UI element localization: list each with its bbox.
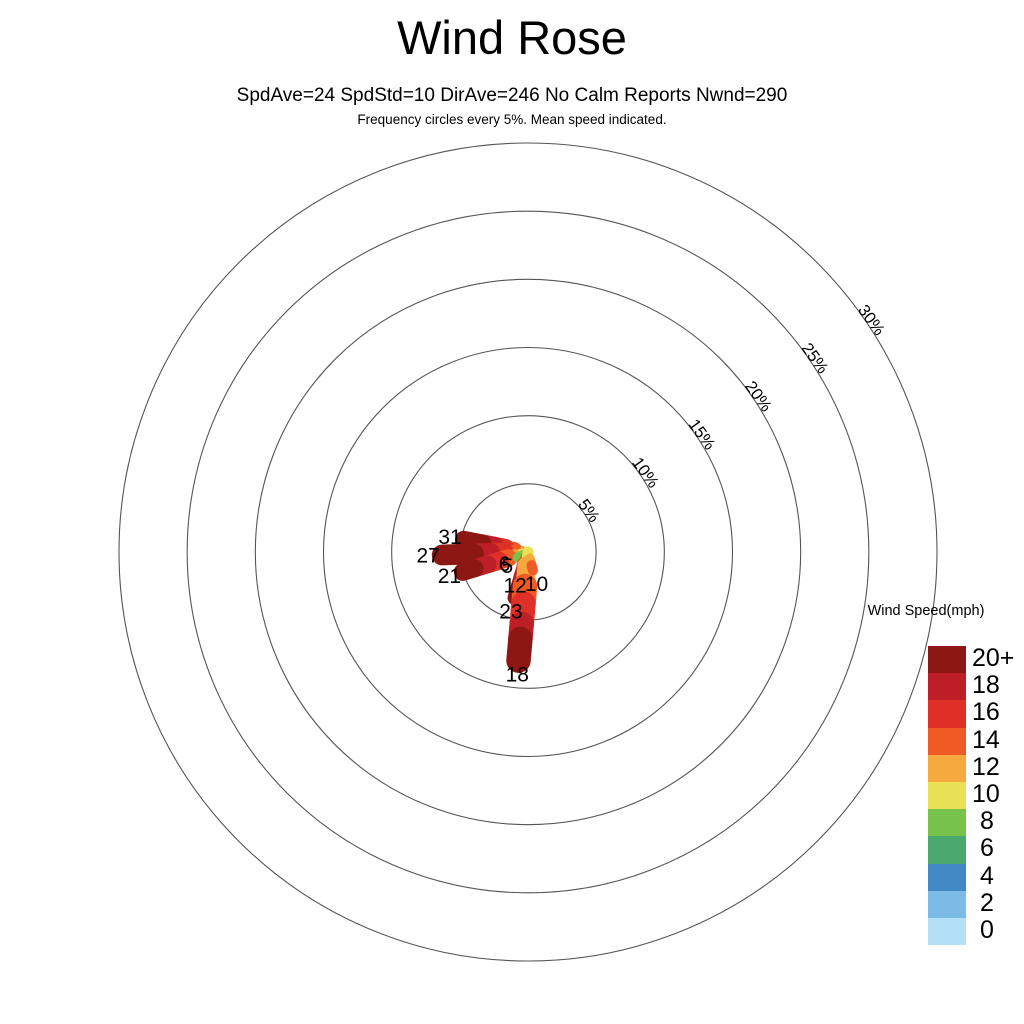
petal-mean-speed-label: 31 — [438, 526, 461, 549]
ring-labels: 5%10%15%20%25%30% — [574, 302, 888, 526]
petal-speed-segment — [518, 639, 520, 661]
petal-mean-speed-label: 18 — [506, 664, 529, 687]
legend-entry-label: 2 — [980, 888, 1024, 918]
legend-entry-label: 0 — [980, 915, 1024, 945]
legend-color-swatch — [928, 782, 966, 809]
petal-speed-segment — [464, 540, 483, 544]
legend-color-swatch — [928, 809, 966, 836]
legend-entry-label: 4 — [980, 861, 1024, 891]
ring-label: 30% — [854, 302, 888, 340]
legend-entry[interactable]: 14 — [928, 728, 966, 755]
legend-entry-label: 20+ — [972, 643, 1024, 673]
legend-color-swatch — [928, 918, 966, 945]
wind-rose-plot: 5%10%15%20%25%30% 3127216512231810 — [0, 0, 1024, 1024]
legend-entry[interactable]: 10 — [928, 782, 966, 809]
legend-entry[interactable]: 2 — [928, 891, 966, 918]
ring-label: 15% — [685, 416, 719, 454]
legend-color-swatch — [928, 646, 966, 673]
legend-entry-label: 14 — [972, 725, 1024, 755]
legend-entry-label: 16 — [972, 697, 1024, 727]
wind-speed-legend: 20+181614121086420 — [928, 646, 966, 945]
legend-color-swatch — [928, 755, 966, 782]
ring-label: 5% — [574, 496, 603, 526]
petal-mean-speed-label: 21 — [438, 565, 461, 588]
legend-color-swatch — [928, 864, 966, 891]
petal-speed-segment — [463, 568, 475, 572]
ring-label: 10% — [628, 454, 662, 492]
petal-speed-segment — [442, 554, 473, 555]
legend-entry[interactable]: 12 — [928, 755, 966, 782]
legend-title: Wind Speed(mph) — [828, 602, 1024, 620]
legend-entry-label: 6 — [980, 833, 1024, 863]
legend-color-swatch — [928, 836, 966, 863]
legend-color-swatch — [928, 673, 966, 700]
legend-entry-label: 10 — [972, 779, 1024, 809]
legend-entry-label: 12 — [972, 752, 1024, 782]
legend-entry[interactable]: 6 — [928, 836, 966, 863]
petal-mean-speed-label: 10 — [525, 573, 548, 596]
petal-mean-speed-label: 12 — [503, 574, 526, 597]
legend-color-swatch — [928, 728, 966, 755]
legend-entry[interactable]: 20+ — [928, 646, 966, 673]
legend-color-swatch — [928, 700, 966, 727]
legend-entry-label: 8 — [980, 806, 1024, 836]
wind-petal[interactable] — [528, 552, 533, 570]
legend-entry[interactable]: 8 — [928, 809, 966, 836]
wind-rose-page: Wind Rose SpdAve=24 SpdStd=10 DirAve=246… — [0, 0, 1024, 1024]
legend-entry[interactable]: 0 — [928, 918, 966, 945]
petal-speed-segment — [532, 565, 533, 570]
legend-entry-label: 18 — [972, 670, 1024, 700]
legend-color-swatch — [928, 891, 966, 918]
petal-mean-speed-label: 27 — [416, 544, 439, 567]
legend-entry[interactable]: 18 — [928, 673, 966, 700]
petal-mean-speed-label: 23 — [499, 600, 522, 623]
legend-entry[interactable]: 16 — [928, 700, 966, 727]
legend-entry[interactable]: 4 — [928, 864, 966, 891]
ring-label: 20% — [741, 378, 775, 416]
ring-label: 25% — [798, 340, 832, 378]
